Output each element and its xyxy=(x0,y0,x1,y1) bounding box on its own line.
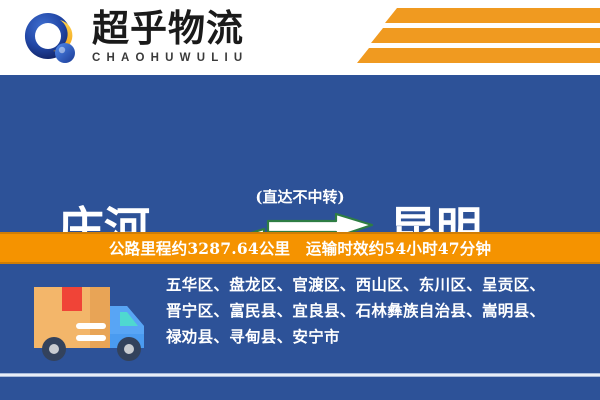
route-panel: 庄河 (直达不中转) 【往返运输】 昆明 xyxy=(0,75,600,232)
circle-crescent-logo-icon xyxy=(22,10,78,66)
coverage-district-list: 五华区、盘龙区、官渡区、西山区、东川区、呈贡区、 晋宁区、富民县、宜良县、石林彝… xyxy=(166,272,586,350)
route-info-text: 公路里程约3287.64公里 运输时效约54小时47分钟 xyxy=(109,237,491,259)
brand-text: 超乎物流 CHAOHUWULIU xyxy=(92,8,342,65)
footer-strip xyxy=(0,377,600,400)
route-info-bar: 公路里程约3287.64公里 运输时效约54小时47分钟 xyxy=(0,232,600,264)
header: 超乎物流 CHAOHUWULIU xyxy=(0,0,600,75)
direct-shipping-label: (直达不中转) xyxy=(218,187,382,207)
delivery-truck-icon xyxy=(28,278,150,364)
logistics-route-banner: 超乎物流 CHAOHUWULIU 庄河 (直达不中转) 【往返运输】 昆明 xyxy=(0,0,600,400)
district-line: 五华区、盘龙区、官渡区、西山区、东川区、呈贡区、 xyxy=(166,272,586,298)
orange-speed-stripes-icon xyxy=(355,6,600,68)
brand-name-en: CHAOHUWULIU xyxy=(92,52,342,65)
district-line: 晋宁区、富民县、宜良县、石林彝族自治县、嵩明县、 xyxy=(166,298,586,324)
brand-name-cn: 超乎物流 xyxy=(92,8,342,49)
district-line: 禄劝县、寻甸县、安宁市 xyxy=(166,324,586,350)
coverage-panel: 五华区、盘龙区、官渡区、西山区、东川区、呈贡区、 晋宁区、富民县、宜良县、石林彝… xyxy=(0,264,600,373)
